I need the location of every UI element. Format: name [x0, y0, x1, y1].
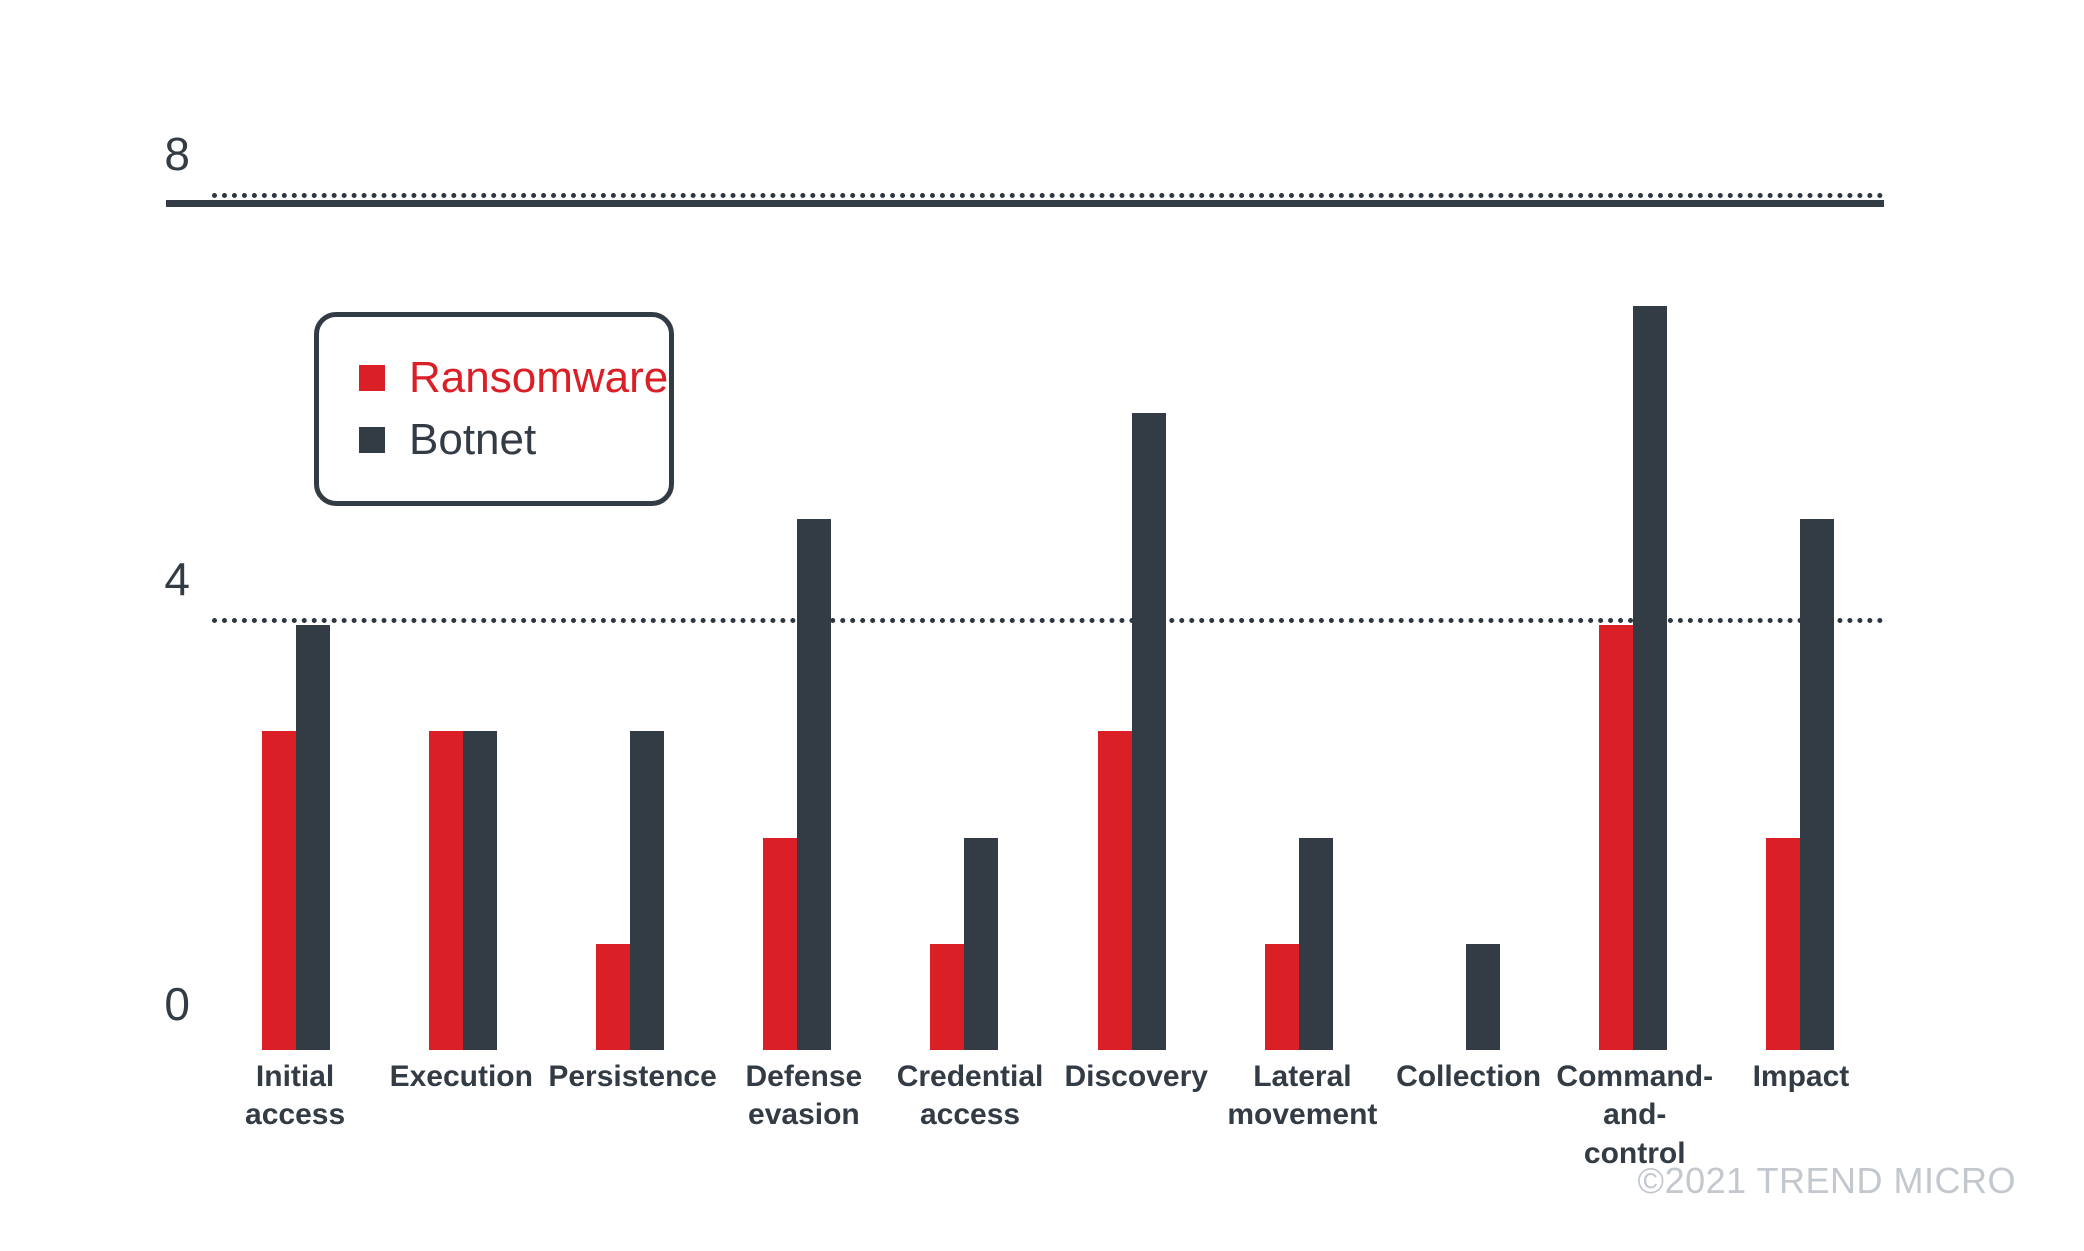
bar-group — [714, 200, 881, 1050]
bar-group — [1550, 200, 1717, 1050]
x-axis-category-label: Lateral movement — [1219, 1058, 1385, 1173]
bar-botnet[interactable] — [1633, 306, 1667, 1050]
bar-botnet[interactable] — [964, 838, 998, 1051]
bar-botnet[interactable] — [630, 731, 664, 1050]
bar-group — [881, 200, 1048, 1050]
x-axis-category-label: Discovery — [1053, 1058, 1219, 1173]
bar-ransomware[interactable] — [763, 838, 797, 1051]
bar-botnet[interactable] — [1800, 519, 1834, 1050]
y-axis-tick-label: 4 — [164, 556, 190, 602]
x-axis-category-label: Command- and-control — [1552, 1058, 1718, 1173]
bar-botnet[interactable] — [296, 625, 330, 1050]
bar-group — [1382, 200, 1549, 1050]
legend-label-ransomware: Ransomware — [409, 356, 668, 400]
bar-pair — [1599, 200, 1667, 1050]
x-axis-category-label: Execution — [378, 1058, 544, 1173]
y-axis-tick-label: 0 — [164, 981, 190, 1027]
bar-ransomware[interactable] — [1766, 838, 1800, 1051]
legend-item-ransomware[interactable]: Ransomware — [359, 347, 669, 409]
legend-item-botnet[interactable]: Botnet — [359, 409, 669, 471]
bar-botnet[interactable] — [1132, 413, 1166, 1051]
x-axis-category-label: Credential access — [887, 1058, 1053, 1173]
bar-group — [1717, 200, 1884, 1050]
bar-botnet[interactable] — [1466, 944, 1500, 1050]
bar-ransomware[interactable] — [262, 731, 296, 1050]
x-axis-category-labels: Initial accessExecutionPersistenceDefens… — [212, 1058, 1884, 1173]
bar-ransomware[interactable] — [1265, 944, 1299, 1050]
bar-ransomware[interactable] — [596, 944, 630, 1050]
bar-group — [1215, 200, 1382, 1050]
bar-botnet[interactable] — [463, 731, 497, 1050]
bar-pair — [930, 200, 998, 1050]
bar-pair — [1766, 200, 1834, 1050]
bar-pair — [1098, 200, 1166, 1050]
y-axis-tick-label: 8 — [164, 131, 190, 177]
bar-botnet[interactable] — [1299, 838, 1333, 1051]
x-axis-category-label: Collection — [1385, 1058, 1551, 1173]
bar-ransomware[interactable] — [1599, 625, 1633, 1050]
bar-ransomware[interactable] — [1098, 731, 1132, 1050]
bar-pair — [763, 200, 831, 1050]
x-axis-category-label: Impact — [1718, 1058, 1884, 1173]
bar-group — [1048, 200, 1215, 1050]
x-axis-category-label: Initial access — [212, 1058, 378, 1173]
gridline — [212, 193, 1884, 198]
legend-swatch-icon-botnet — [359, 427, 385, 453]
copyright-notice: ©2021 TREND MICRO — [1638, 1160, 2016, 1202]
legend-label-botnet: Botnet — [409, 418, 536, 462]
bar-chart: 048 Initial accessExecutionPersistenceDe… — [0, 0, 2084, 1251]
x-axis-line — [166, 200, 1884, 207]
bar-pair — [1432, 200, 1500, 1050]
bar-pair — [1265, 200, 1333, 1050]
bar-ransomware[interactable] — [930, 944, 964, 1050]
bar-ransomware[interactable] — [429, 731, 463, 1050]
chart-legend: Ransomware Botnet — [314, 312, 674, 506]
x-axis-category-label: Persistence — [544, 1058, 720, 1173]
x-axis-category-label: Defense evasion — [721, 1058, 887, 1173]
bar-botnet[interactable] — [797, 519, 831, 1050]
legend-swatch-icon-ransomware — [359, 365, 385, 391]
